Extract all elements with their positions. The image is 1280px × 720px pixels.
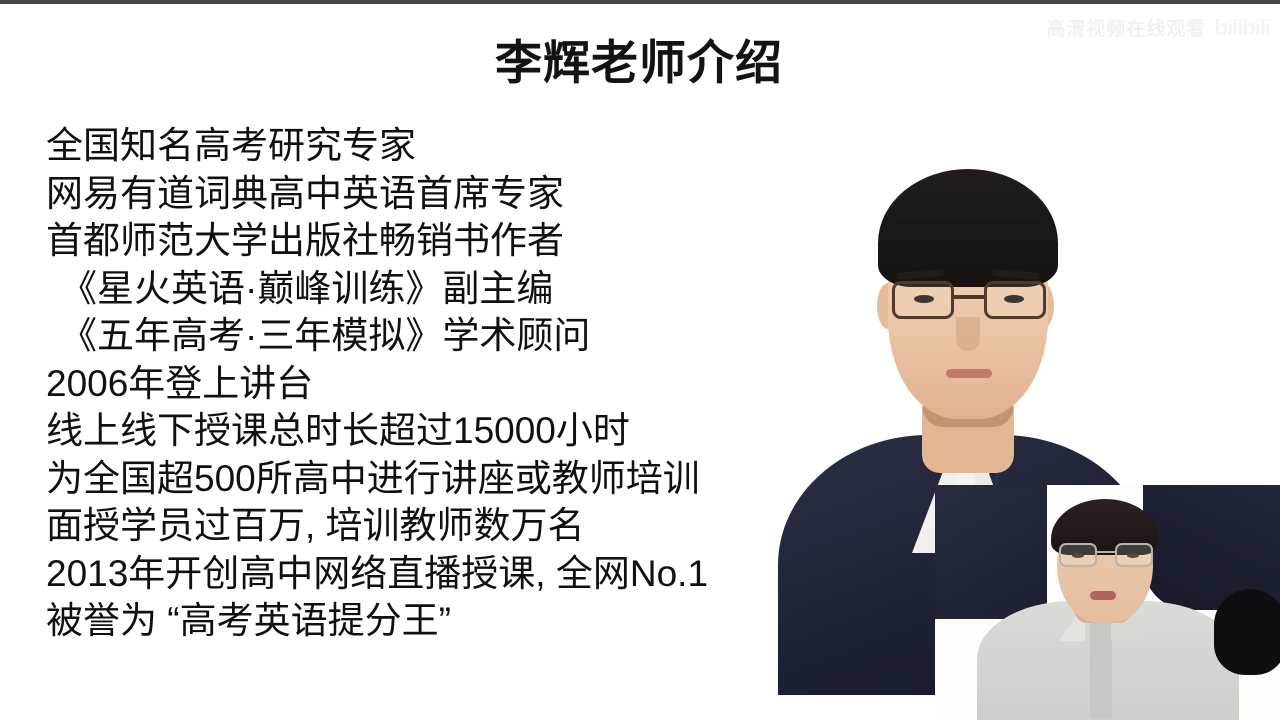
pip-mouth [1090, 591, 1116, 600]
bullet-line: 《星火英语·巅峰训练》副主编 [46, 265, 836, 313]
bullet-line: 为全国超500所高中进行讲座或教师培训 [46, 455, 836, 503]
bullet-line: 《五年高考·三年模拟》学术顾问 [46, 312, 836, 360]
watermark: 高清视频在线观看 bilibili [1046, 14, 1270, 41]
bullet-list: 全国知名高考研究专家 网易有道词典高中英语首席专家 首都师范大学出版社畅销书作者… [46, 122, 836, 645]
watermark-logo: bilibili [1214, 15, 1270, 41]
bullet-line: 被誉为 “高考英语提分王” [46, 597, 836, 645]
portrait-hair [878, 169, 1058, 287]
bullet-line: 2013年开创高中网络直播授课, 全网No.1 [46, 550, 836, 598]
portrait-lens-right [984, 281, 1046, 319]
pip-eyeglasses [1059, 543, 1153, 569]
portrait-nose [956, 317, 980, 351]
pip-lens-left [1059, 543, 1097, 567]
bullet-line: 网易有道词典高中英语首席专家 [46, 170, 836, 218]
portrait-mouth [946, 369, 992, 378]
bullet-line: 2006年登上讲台 [46, 360, 836, 408]
pip-background-left [935, 485, 1047, 619]
watermark-text: 高清视频在线观看 [1046, 14, 1206, 41]
pip-lens-right [1115, 543, 1153, 567]
bullet-line: 线上线下授课总时长超过15000小时 [46, 407, 836, 455]
letterbox-top-bar [0, 0, 1280, 4]
slide-title: 李辉老师介绍 [0, 38, 1280, 89]
bullet-line: 全国知名高考研究专家 [46, 122, 836, 170]
webcam-pip-overlay[interactable] [935, 485, 1280, 720]
portrait-lens-left [892, 281, 954, 319]
pip-glasses-bridge [1097, 551, 1115, 553]
portrait-eyeglasses [890, 281, 1048, 321]
bullet-line: 首都师范大学出版社畅销书作者 [46, 217, 836, 265]
pip-shirt-placket [1090, 615, 1112, 719]
video-frame: 李辉老师介绍 全国知名高考研究专家 网易有道词典高中英语首席专家 首都师范大学出… [0, 0, 1280, 720]
microphone-icon [1214, 589, 1280, 675]
portrait-glasses-bridge [954, 295, 986, 299]
bullet-line: 面授学员过百万, 培训教师数万名 [46, 502, 836, 550]
